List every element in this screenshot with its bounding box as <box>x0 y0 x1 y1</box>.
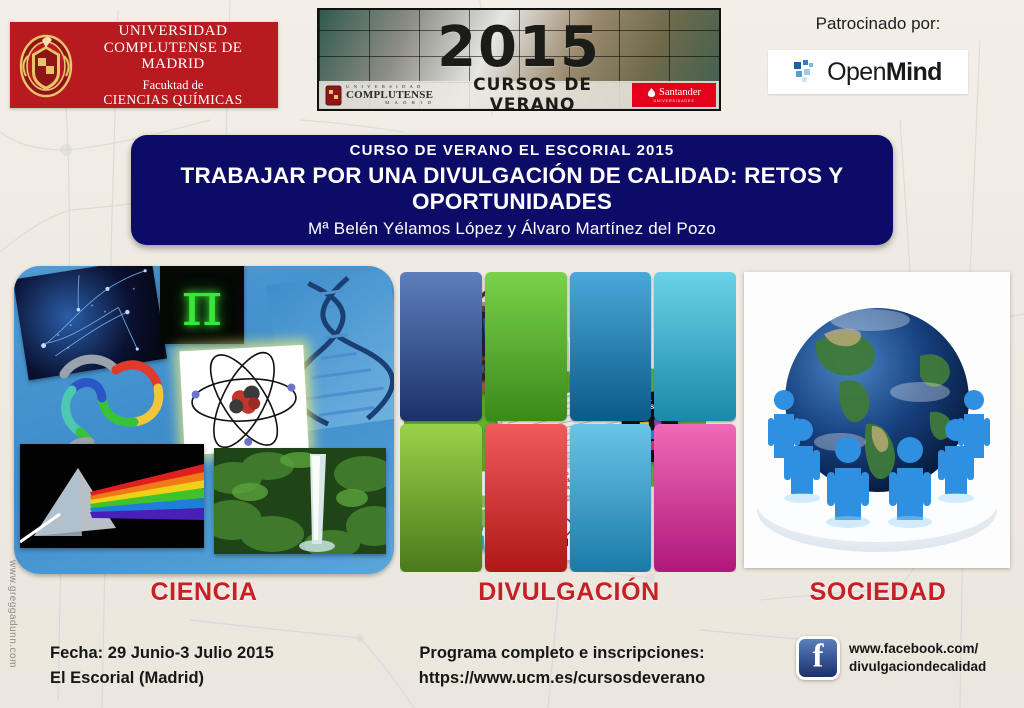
youtube-icon[interactable] <box>485 424 567 573</box>
category-label-ciencia: CIENCIA <box>94 578 314 607</box>
santander-logo: Santander UNIVERSIDADES <box>632 83 716 107</box>
social-media-icons-image <box>400 384 530 472</box>
ucm-coat-of-arms-icon <box>18 32 74 98</box>
complutense-crest-icon <box>325 85 342 106</box>
santander-logo-row: Santander <box>647 87 701 98</box>
sponsor-label: Patrocinado por: <box>744 14 1012 34</box>
course-main-title: TRABAJAR POR UNA DIVULGACIÓN DE CALIDAD:… <box>131 163 893 215</box>
ucm-faculty-logo-box: UNIVERSIDAD COMPLUTENSE DE MADRID Facukt… <box>10 22 278 108</box>
category-label-divulgacion: DIVULGACIÓN <box>440 578 698 607</box>
event-date: Fecha: 29 Junio-3 Julio 2015 <box>50 641 274 666</box>
santander-subtitle: UNIVERSIDADES <box>653 99 694 103</box>
openmind-mind-text: Mind <box>886 58 942 86</box>
facebook-block[interactable]: www.facebook.com/ divulgaciondecalidad <box>796 636 986 680</box>
picasa-icon[interactable] <box>400 424 482 573</box>
complutense-main-line: COMPLUTENSE <box>346 90 433 101</box>
facebook-url-line2: divulgaciondecalidad <box>849 658 986 676</box>
divulgacion-collage-panel: La nodriza Hasta el infinito y más allá … <box>400 272 736 572</box>
ucm-line-universidad: UNIVERSIDAD <box>74 23 272 40</box>
openmind-open-text: Open <box>827 58 886 86</box>
course-subtitle: CURSO DE VERANO EL ESCORIAL 2015 <box>131 142 893 159</box>
flickr-icon[interactable] <box>654 424 736 573</box>
twitter-icon[interactable] <box>570 424 652 573</box>
ucm-line-complutense: COMPLUTENSE DE MADRID <box>74 40 272 74</box>
science-collage-panel: π <box>14 266 394 574</box>
ucm-line-facultad: Facuktad de <box>74 78 272 92</box>
event-details: Fecha: 29 Junio-3 Julio 2015 El Escorial… <box>50 641 274 691</box>
atom-model-image <box>179 345 308 455</box>
pi-symbol-image: π <box>160 266 244 344</box>
openmind-logo: OpenMind <box>768 50 968 94</box>
openmind-wordmark: OpenMind <box>827 60 942 85</box>
course-authors: Mª Belén Yélamos López y Álvaro Martínez… <box>131 219 893 239</box>
facebook-icon[interactable] <box>400 272 482 421</box>
stumbleupon-icon[interactable] <box>485 272 567 421</box>
summer-courses-2015-banner: 2015 U N I V E R S I D A D COMPLUTENSE M… <box>317 8 721 111</box>
ucm-line-ciencias-quimicas: CIENCIAS QUÍMICAS <box>74 92 272 107</box>
vimeo-icon[interactable] <box>654 272 736 421</box>
artwork-watermark: www.greggadunn.com <box>2 560 18 700</box>
complutense-logo: U N I V E R S I D A D COMPLUTENSE M A D … <box>325 85 433 106</box>
santander-flame-icon <box>647 88 656 97</box>
openmind-squares-icon <box>794 60 820 84</box>
complutense-wordmark: U N I V E R S I D A D COMPLUTENSE M A D … <box>346 85 433 105</box>
facebook-icon[interactable] <box>796 636 840 680</box>
banner-footer-bar: U N I V E R S I D A D COMPLUTENSE M A D … <box>319 81 719 109</box>
registration-url[interactable]: https://www.ucm.es/cursosdeverano <box>392 666 732 691</box>
prism-spectrum-image <box>20 444 204 548</box>
registration-label: Programa completo e inscripciones: <box>392 641 732 666</box>
event-place: El Escorial (Madrid) <box>50 666 274 691</box>
category-label-sociedad: SOCIEDAD <box>760 578 996 607</box>
banner-tagline: CURSOS DE VERANO <box>433 75 632 111</box>
registration-details: Programa completo e inscripciones: https… <box>392 641 732 691</box>
social-icon-grid <box>400 272 736 572</box>
globe-with-people-image <box>744 272 1010 568</box>
santander-name: Santander <box>659 87 701 98</box>
society-image-panel <box>744 272 1010 568</box>
poster-canvas: UNIVERSIDAD COMPLUTENSE DE MADRID Facukt… <box>0 0 1024 708</box>
facebook-glyph <box>799 639 837 677</box>
banner-year-text: 2015 <box>319 20 719 76</box>
complutense-bottom-line: M A D R I D <box>346 101 433 106</box>
facebook-url-line1: www.facebook.com/ <box>849 640 986 658</box>
linkedin-icon[interactable] <box>570 272 652 421</box>
course-title-banner: CURSO DE VERANO EL ESCORIAL 2015 TRABAJA… <box>131 135 893 245</box>
facebook-url[interactable]: www.facebook.com/ divulgaciondecalidad <box>849 640 986 676</box>
ucm-logo-text: UNIVERSIDAD COMPLUTENSE DE MADRID Facukt… <box>74 23 278 108</box>
rainforest-waterfall-image <box>214 448 386 554</box>
